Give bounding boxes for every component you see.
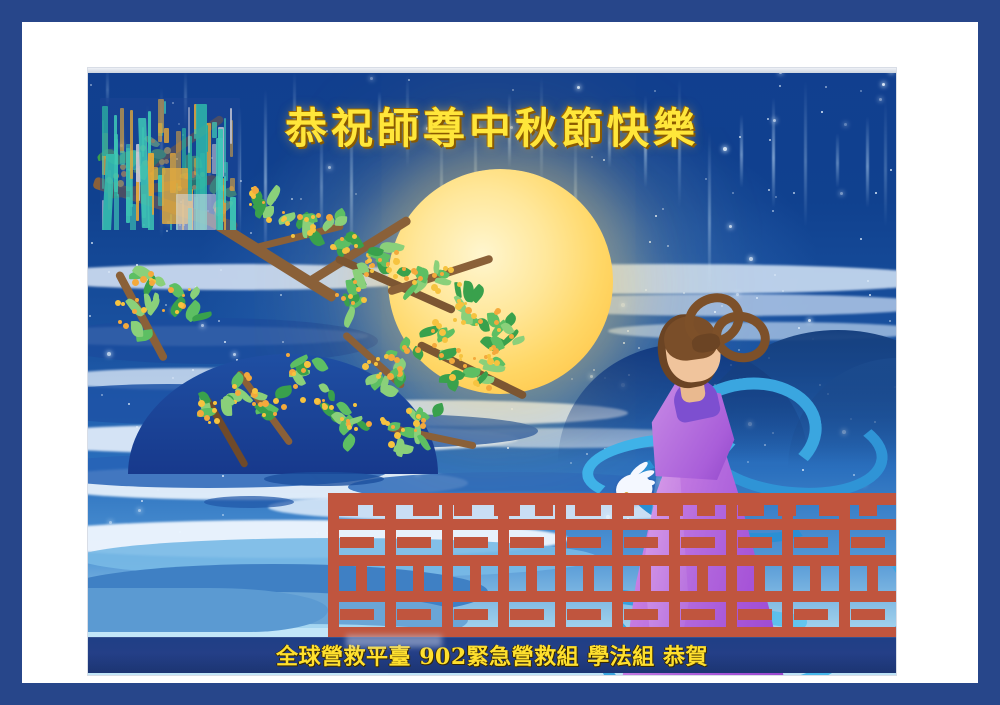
greeting-card: 恭祝師尊中秋節快樂 全球營救平臺 902緊急營救組 學法組 恭賀: [0, 0, 1000, 705]
artwork-top-edge: [88, 68, 896, 73]
caption-bar: 全球營救平臺 902緊急營救組 學法組 恭賀: [88, 637, 896, 673]
caption-text: 全球營救平臺 902緊急營救組 學法組 恭賀: [276, 639, 708, 671]
title-text: 恭祝師尊中秋節快樂: [285, 95, 699, 156]
caption-smudge: [346, 635, 442, 647]
artwork-image: [88, 68, 896, 675]
title-banner: 恭祝師尊中秋節快樂: [88, 95, 896, 156]
